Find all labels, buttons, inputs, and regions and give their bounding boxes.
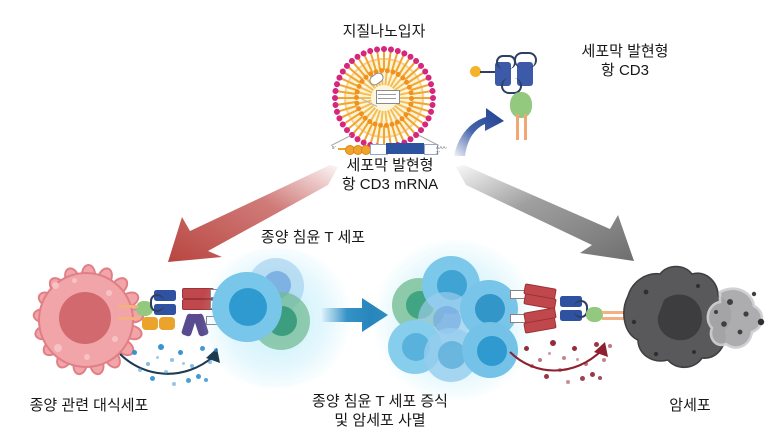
cytokine-dot xyxy=(214,348,218,352)
cytotoxic-granule-dot xyxy=(544,374,549,379)
macrophage-label: 종양 관련 대식세포 xyxy=(4,396,174,415)
cytotoxic-granule-dot xyxy=(538,358,542,362)
red-arrow-to-macrophage xyxy=(150,165,340,265)
cytokine-dot xyxy=(138,368,142,372)
protein-loop-left xyxy=(496,55,516,69)
cytokine-dot xyxy=(170,358,174,362)
diagram-canvas: 지질나노입자 5' AAA-3' 세포막 발현형 항 CD3 mRNA xyxy=(0,0,768,438)
lipid-molecule xyxy=(336,97,356,99)
macrophage-vacuole-2 xyxy=(106,290,112,296)
macrophage-vacuole-4 xyxy=(112,336,118,342)
cytokine-dot xyxy=(190,364,194,368)
cytotoxic-granule-dot xyxy=(524,346,529,351)
mhc-domain-2 xyxy=(159,317,175,330)
tcell-nucleus xyxy=(229,288,267,326)
mrna-construct-icon: 5' AAA-3' xyxy=(332,143,448,154)
tcell-nucleus xyxy=(475,294,505,324)
cytotoxic-granule-dot xyxy=(558,368,562,372)
cytotoxic-granule-dot xyxy=(550,340,556,346)
cytokine-dot xyxy=(156,356,159,359)
macrophage-vacuole-3 xyxy=(54,344,62,352)
lnp-cargo-a xyxy=(376,90,400,104)
cytokine-dot xyxy=(178,350,183,355)
tcell-main-blue xyxy=(212,272,282,342)
lnp-cargo-line1 xyxy=(378,94,396,95)
synapse-tm-left xyxy=(118,305,138,308)
cytotoxic-granule-dot xyxy=(580,376,585,381)
mrna-coding-sequence xyxy=(386,143,424,154)
cytotoxic-granule-dot xyxy=(590,372,595,377)
right-synapse-complex xyxy=(510,284,606,340)
protein-linker xyxy=(480,71,496,73)
macrophage-vacuole-5 xyxy=(84,354,90,360)
synapse-tm-left-2 xyxy=(118,317,140,320)
cytokine-dot xyxy=(204,378,208,382)
cytokine-dot xyxy=(196,374,201,379)
lipid-nanoparticle-icon xyxy=(336,50,432,146)
cytotoxic-granule-dot xyxy=(572,346,577,351)
cancer-label: 암세포 xyxy=(640,396,740,415)
mhc-domain-1 xyxy=(142,317,158,330)
protein-tm-leg-1 xyxy=(516,114,519,140)
lnp-cargo-line2 xyxy=(378,98,396,99)
protein-label: 세포막 발현형 항 CD3 xyxy=(530,42,720,80)
t-proliferation-label: 종양 침윤 T 세포 증식 및 암세포 사멸 xyxy=(272,392,488,430)
cytokine-dot xyxy=(186,378,191,383)
cytokine-dot xyxy=(164,370,168,374)
cytotoxic-granule-dot xyxy=(562,356,566,360)
anti-cd3-loop-left xyxy=(150,294,164,312)
cytotoxic-granule-dot xyxy=(530,364,534,368)
lnp-title-label: 지질나노입자 xyxy=(304,22,464,41)
cytotoxic-granule-dot xyxy=(548,352,551,355)
cytokine-dot xyxy=(208,360,212,364)
tcell-nucleus xyxy=(477,336,507,366)
macrophage-nucleus xyxy=(59,292,111,344)
lipid-molecule xyxy=(412,97,432,99)
cancer-cell xyxy=(598,262,768,382)
mrna-polya-label: AAA-3' xyxy=(436,145,448,155)
macrophage-vacuole-1 xyxy=(52,282,59,289)
cytotoxic-granule-dot xyxy=(584,362,588,366)
cytokine-dot xyxy=(172,382,176,386)
cytotoxic-granule-dot xyxy=(576,358,579,361)
lipid-molecule xyxy=(383,50,385,70)
protein-tm-leg-2 xyxy=(524,114,527,140)
macrophage-vacuole-6 xyxy=(72,278,77,283)
tumor-infiltrating-t-label: 종양 침윤 T 세포 xyxy=(218,228,408,247)
cytokine-dot xyxy=(146,362,150,366)
cytokine-dot xyxy=(200,346,205,351)
mrna-five-prime-label: 5' xyxy=(332,145,336,150)
cytokine-dot xyxy=(150,376,155,381)
protein-membrane-anchor xyxy=(510,92,532,118)
cytokine-dot xyxy=(132,350,137,355)
cytokine-dot xyxy=(158,344,164,350)
lnp-to-protein-arrow xyxy=(452,96,512,158)
cytokine-dot xyxy=(182,362,185,365)
cytotoxic-granule-dot xyxy=(566,380,570,384)
